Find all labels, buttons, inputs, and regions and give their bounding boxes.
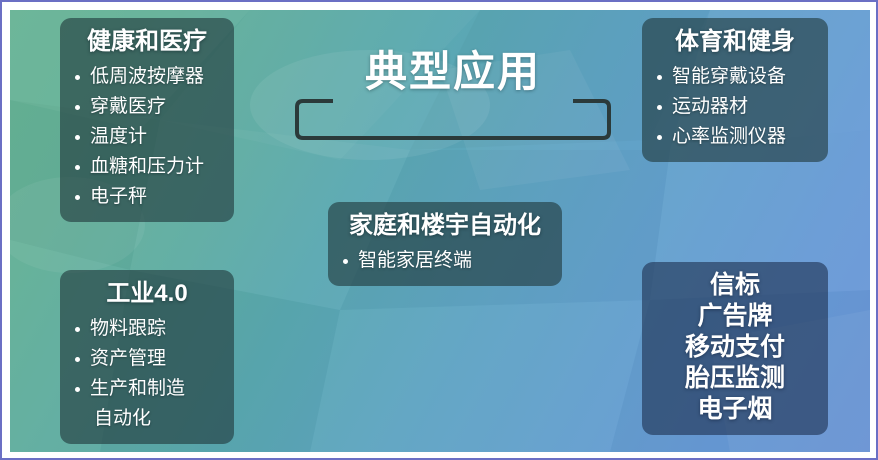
list-item-continuation: 自动化	[90, 404, 222, 434]
card-home-building-automation[interactable]: 家庭和楼宇自动化 智能家居终端	[328, 202, 562, 286]
card-health-title: 健康和医疗	[72, 26, 222, 58]
card-industry-title: 工业4.0	[72, 278, 222, 310]
list-item: 电子烟	[654, 394, 816, 425]
list-item: 智能家居终端	[340, 246, 550, 276]
card-sports-list: 智能穿戴设备 运动器材 心率监测仪器	[654, 62, 816, 152]
card-beacon-list: 信标 广告牌 移动支付 胎压监测 电子烟	[654, 270, 816, 425]
list-item: 低周波按摩器	[72, 62, 222, 92]
card-home-title: 家庭和楼宇自动化	[340, 210, 550, 242]
card-home-list: 智能家居终端	[340, 246, 550, 276]
card-health-list: 低周波按摩器 穿戴医疗 温度计 血糖和压力计 电子秤	[72, 62, 222, 212]
list-item: 物料跟踪	[72, 314, 222, 344]
list-item: 智能穿戴设备	[654, 62, 816, 92]
list-item: 运动器材	[654, 92, 816, 122]
page-title: 典型应用	[293, 46, 613, 98]
card-sports-fitness[interactable]: 体育和健身 智能穿戴设备 运动器材 心率监测仪器	[642, 18, 828, 162]
list-item: 心率监测仪器	[654, 122, 816, 152]
center-title-block: 典型应用	[293, 46, 613, 146]
slide-canvas: 典型应用 健康和医疗 低周波按摩器 穿戴医疗 温度计 血糖和压力计 电子秤 工业…	[10, 10, 870, 452]
card-health-medical[interactable]: 健康和医疗 低周波按摩器 穿戴医疗 温度计 血糖和压力计 电子秤	[60, 18, 234, 222]
list-item: 温度计	[72, 122, 222, 152]
bracket-decoration-icon	[293, 96, 613, 144]
list-item: 资产管理	[72, 344, 222, 374]
list-item: 信标	[654, 270, 816, 301]
list-item: 生产和制造 自动化	[72, 374, 222, 434]
list-item-text: 生产和制造	[90, 378, 185, 399]
list-item: 胎压监测	[654, 363, 816, 394]
card-industry-list: 物料跟踪 资产管理 生产和制造 自动化	[72, 314, 222, 434]
list-item: 穿戴医疗	[72, 92, 222, 122]
slide-frame: 典型应用 健康和医疗 低周波按摩器 穿戴医疗 温度计 血糖和压力计 电子秤 工业…	[0, 0, 878, 460]
card-beacon-misc[interactable]: 信标 广告牌 移动支付 胎压监测 电子烟	[642, 262, 828, 435]
list-item: 广告牌	[654, 301, 816, 332]
card-sports-title: 体育和健身	[654, 26, 816, 58]
list-item: 血糖和压力计	[72, 152, 222, 182]
card-industry-40[interactable]: 工业4.0 物料跟踪 资产管理 生产和制造 自动化	[60, 270, 234, 444]
list-item: 移动支付	[654, 332, 816, 363]
list-item: 电子秤	[72, 182, 222, 212]
